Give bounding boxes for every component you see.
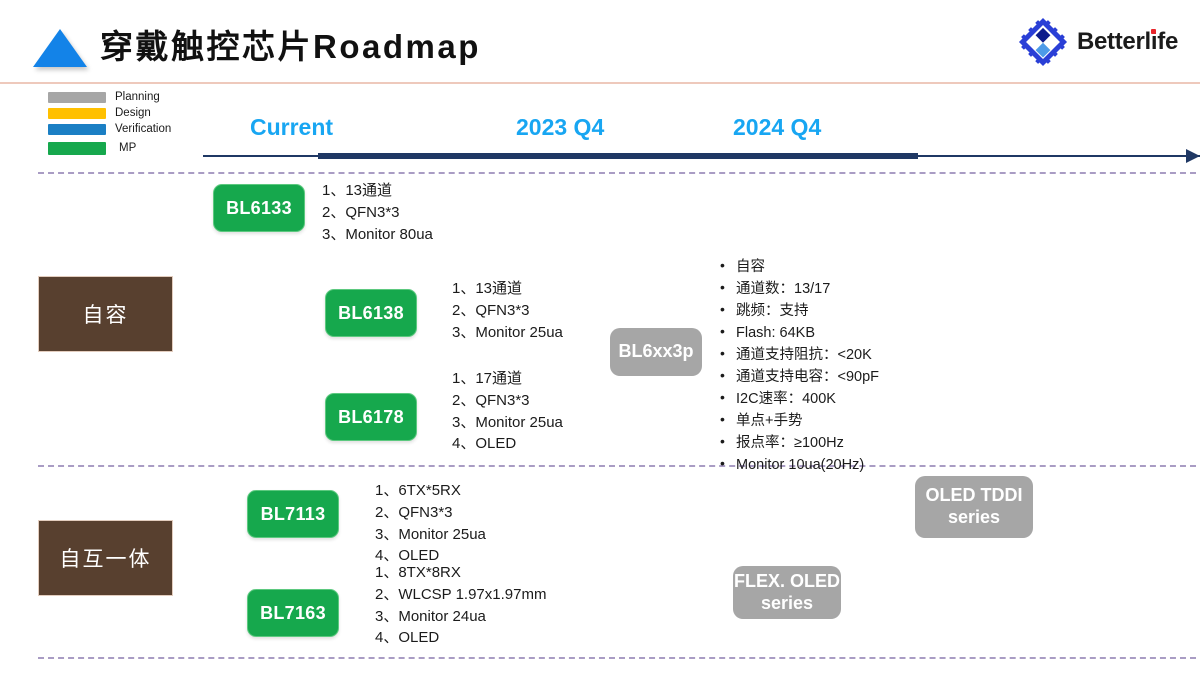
page-header: 穿戴触控芯片Roadmap bbox=[0, 0, 1200, 83]
timeline-label-2023q4: 2023 Q4 bbox=[516, 114, 604, 141]
feature-item: 单点+手势 bbox=[718, 410, 879, 432]
spec-item: 1、13通道 bbox=[322, 180, 433, 202]
spec-list-bl6178: 1、17通道 2、QFN3*3 3、Monitor 25ua 4、OLED bbox=[452, 368, 563, 455]
legend-item-planning: Planning bbox=[48, 90, 223, 104]
spec-item: 4、OLED bbox=[452, 433, 563, 455]
future-box-flex-oled-line1: FLEX. OLED bbox=[734, 571, 840, 593]
spec-item: 2、QFN3*3 bbox=[375, 502, 486, 524]
spec-item: 1、8TX*8RX bbox=[375, 562, 546, 584]
spec-item: 2、QFN3*3 bbox=[322, 202, 433, 224]
feature-item: I2C速率：400K bbox=[718, 388, 879, 410]
category-box-self-capacitance: 自容 bbox=[38, 276, 173, 352]
future-box-oled-tddi[interactable]: OLED TDDI series bbox=[915, 476, 1033, 538]
chip-bl7113[interactable]: BL7113 bbox=[247, 490, 339, 538]
legend-swatch-design bbox=[48, 108, 106, 119]
spec-item: 4、OLED bbox=[375, 627, 546, 649]
spec-list-bl6138: 1、13通道 2、QFN3*3 3、Monitor 25ua bbox=[452, 278, 563, 343]
feature-list-bl6xx3p: 自容 通道数：13/17 跳频：支持 Flash: 64KB 通道支持阻抗：<2… bbox=[718, 256, 879, 476]
chip-bl6xx3p-label: BL6xx3p bbox=[618, 341, 693, 363]
page-title: 穿戴触控芯片Roadmap bbox=[100, 20, 481, 68]
brand-name-text: Betterlife bbox=[1077, 28, 1178, 55]
spec-item: 1、17通道 bbox=[452, 368, 563, 390]
feature-item: 通道支持电容：<90pF bbox=[718, 366, 879, 388]
category-box-self-mutual: 自互一体 bbox=[38, 520, 173, 596]
spec-item: 2、QFN3*3 bbox=[452, 300, 563, 322]
brand-accent-dot bbox=[1151, 29, 1156, 34]
legend-swatch-planning bbox=[48, 92, 106, 103]
spec-item: 3、Monitor 25ua bbox=[452, 412, 563, 434]
chip-bl6133[interactable]: BL6133 bbox=[213, 184, 305, 232]
spec-item: 3、Monitor 25ua bbox=[375, 524, 486, 546]
feature-item: 自容 bbox=[718, 256, 879, 278]
spec-item: 3、Monitor 24ua bbox=[375, 606, 546, 628]
spec-item: 3、Monitor 80ua bbox=[322, 224, 433, 246]
timeline-label-current: Current bbox=[250, 114, 333, 141]
timeline-label-2024q4: 2024 Q4 bbox=[733, 114, 821, 141]
header-divider bbox=[0, 82, 1200, 84]
future-box-oled-tddi-line1: OLED TDDI bbox=[926, 485, 1023, 507]
legend-label-design: Design bbox=[115, 107, 151, 119]
chip-bl6138[interactable]: BL6138 bbox=[325, 289, 417, 337]
brand-name: Betterlife bbox=[1077, 28, 1178, 56]
legend-label-verification: Verification bbox=[115, 123, 171, 135]
legend-item-design: Design bbox=[48, 106, 223, 120]
blue-triangle-icon bbox=[33, 29, 87, 67]
feature-item: Monitor 10ua(20Hz) bbox=[718, 454, 879, 476]
timeline-arrow-icon bbox=[1186, 149, 1200, 163]
feature-item: 通道支持阻抗：<20K bbox=[718, 344, 879, 366]
timeline-axis-emphasis bbox=[318, 153, 918, 159]
feature-item: Flash: 64KB bbox=[718, 322, 879, 344]
feature-item: 通道数：13/17 bbox=[718, 278, 879, 300]
status-legend: Planning Design Verification MP bbox=[48, 90, 223, 157]
chip-bl7163[interactable]: BL7163 bbox=[247, 589, 339, 637]
spec-item: 1、13通道 bbox=[452, 278, 563, 300]
spec-item: 1、6TX*5RX bbox=[375, 480, 486, 502]
feature-item: 跳频：支持 bbox=[718, 300, 879, 322]
legend-label-planning: Planning bbox=[115, 91, 160, 103]
chip-bl6178[interactable]: BL6178 bbox=[325, 393, 417, 441]
legend-swatch-mp bbox=[48, 142, 106, 155]
separator-top bbox=[38, 172, 1196, 174]
future-box-flex-oled-line2: series bbox=[761, 593, 813, 615]
spec-item: 2、QFN3*3 bbox=[452, 390, 563, 412]
spec-item: 2、WLCSP 1.97x1.97mm bbox=[375, 584, 546, 606]
legend-swatch-verification bbox=[48, 124, 106, 135]
future-box-flex-oled[interactable]: FLEX. OLED series bbox=[733, 566, 841, 619]
separator-middle bbox=[38, 465, 1196, 467]
chip-bl6xx3p[interactable]: BL6xx3p bbox=[610, 328, 702, 376]
spec-item: 3、Monitor 25ua bbox=[452, 322, 563, 344]
legend-item-mp: MP bbox=[48, 141, 223, 155]
feature-item: 报点率：≥100Hz bbox=[718, 432, 879, 454]
legend-label-mp: MP bbox=[119, 142, 136, 154]
separator-bottom bbox=[38, 657, 1196, 659]
future-box-oled-tddi-line2: series bbox=[948, 507, 1000, 529]
brand-logo: Betterlife bbox=[1018, 17, 1178, 67]
spec-list-bl7163: 1、8TX*8RX 2、WLCSP 1.97x1.97mm 3、Monitor … bbox=[375, 562, 546, 649]
spec-list-bl6133: 1、13通道 2、QFN3*3 3、Monitor 80ua bbox=[322, 180, 433, 245]
betterlife-diamond-logo bbox=[1018, 17, 1068, 67]
spec-list-bl7113: 1、6TX*5RX 2、QFN3*3 3、Monitor 25ua 4、OLED bbox=[375, 480, 486, 567]
legend-item-verification: Verification bbox=[48, 122, 223, 136]
